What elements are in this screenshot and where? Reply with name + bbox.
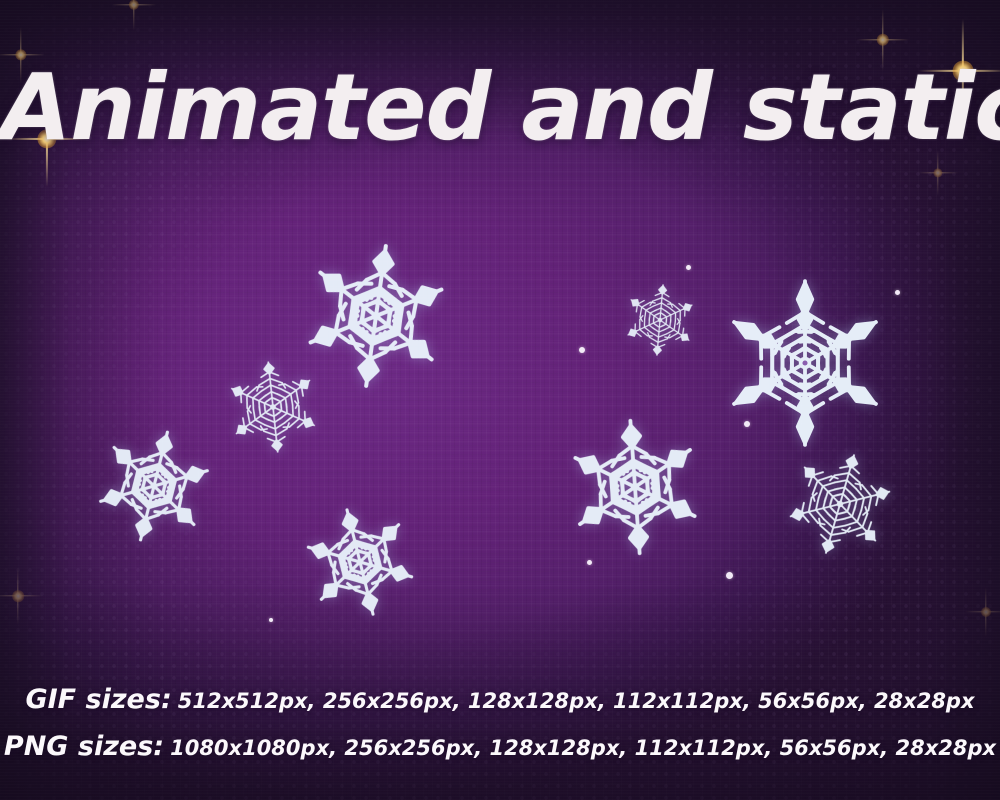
page-title: Animated and static <box>0 62 1000 154</box>
gif-sizes-label: GIF sizes: <box>25 684 171 715</box>
gif-sizes-values: 512x512px, 256x256px, 128x128px, 112x112… <box>178 689 975 713</box>
size-info-block: GIF sizes: 512x512px, 256x256px, 128x128… <box>0 684 1000 762</box>
snowflake-6-icon <box>714 272 896 454</box>
snowflake-5-icon <box>613 273 706 366</box>
snow-dot <box>686 265 691 270</box>
snow-dot <box>579 347 585 353</box>
png-sizes-label: PNG sizes: <box>4 731 164 762</box>
preview-canvas: Animated and static GIF sizes: 512x512px… <box>0 0 1000 800</box>
png-sizes-line: PNG sizes: 1080x1080px, 256x256px, 128x1… <box>0 731 1000 762</box>
snowflake-7-icon <box>551 403 720 572</box>
snow-dot <box>269 618 273 622</box>
png-sizes-values: 1080x1080px, 256x256px, 128x128px, 112x1… <box>170 736 996 760</box>
snow-dot <box>726 572 733 579</box>
gif-sizes-line: GIF sizes: 512x512px, 256x256px, 128x128… <box>0 684 1000 715</box>
